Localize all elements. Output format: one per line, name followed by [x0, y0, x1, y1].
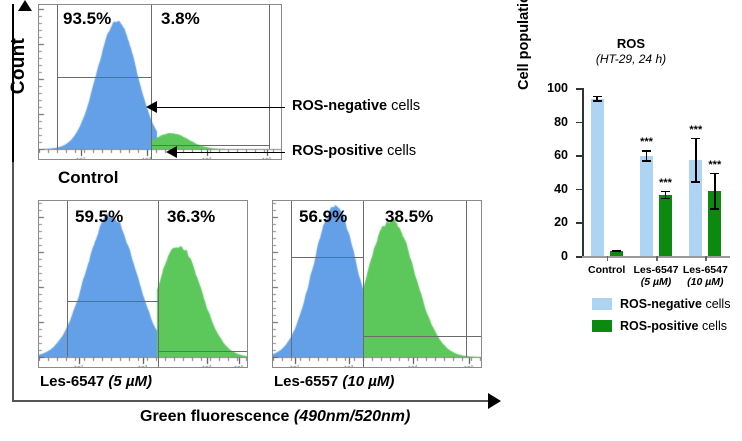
percent-negative-les6547-5um: 59.5%: [75, 207, 123, 227]
chart-subtitle: (HT-29, 24 h): [520, 52, 742, 66]
chart-bar: [591, 99, 604, 256]
chart-error-bar: [646, 150, 648, 162]
legend-swatch: [592, 298, 612, 310]
chart-error-cap: [661, 191, 670, 193]
gate-left-bound-les6557-10um: [291, 201, 292, 357]
chart-y-tick: 40: [576, 189, 582, 191]
chart-error-cap: [710, 173, 719, 175]
annotation-label-ros-negative-rest: cells: [387, 98, 420, 114]
chart-y-tick: 100: [576, 88, 582, 90]
caption-les6547-5um: Les-6547 (5 µM): [40, 373, 152, 390]
caption-control: Control: [58, 168, 118, 188]
caption-control-bold: Control: [58, 168, 118, 187]
chart-error-cap: [710, 208, 719, 210]
annotation-label-ros-positive: ROS-positive cells: [292, 143, 416, 159]
chart-bar: [640, 156, 653, 256]
annotation-arrow-ros-negative: [146, 101, 157, 113]
chart-error-cap: [642, 160, 651, 162]
gate-region-positive-les6547-5um: [158, 351, 247, 352]
flow-cytometry-section: Count Green fluorescence (490nm/520nm) 9…: [0, 0, 520, 441]
green-fluorescence-axis-line: [12, 400, 492, 402]
chart-error-bar: [695, 138, 697, 183]
chart-y-axis: [582, 88, 584, 256]
caption-les6557-10um: Les-6557 (10 µM): [274, 373, 394, 390]
chart-y-tick-label: 20: [554, 215, 568, 229]
chart-y-tick: 60: [576, 155, 582, 157]
annotation-line-ros-positive: [175, 152, 285, 153]
caption-les6557-10um-italic: (10 µM): [342, 373, 394, 390]
caption-les6547-5um-bold: Les-6547: [40, 373, 104, 390]
chart-error-bar: [714, 173, 716, 210]
chart-y-tick-label: 60: [554, 148, 568, 162]
gate-divider-les6547-5um: [158, 201, 159, 367]
green-fluorescence-axis-arrowhead: [488, 393, 501, 409]
legend-label: ROS-negative cells: [620, 297, 730, 311]
chart-x-tick: [607, 256, 609, 261]
gate-right-bound-control: [269, 5, 270, 149]
legend-label-bold: ROS-negative: [620, 297, 702, 311]
annotation-arrow-ros-positive: [166, 146, 177, 158]
bar-chart-section: ROS (HT-29, 24 h) Cell population, % 020…: [520, 0, 742, 441]
chart-significance-marker: ***: [659, 177, 672, 189]
histogram-panel-control: 93.5% 3.8%: [38, 4, 282, 160]
chart-y-axis-label: Cell population, %: [516, 0, 532, 90]
gate-left-bound-control: [57, 5, 58, 149]
chart-error-cap: [593, 96, 602, 98]
legend-label: ROS-positive cells: [620, 319, 727, 333]
x-axis-title: Green fluorescence (490nm/520nm): [140, 408, 410, 426]
chart-x-category-label: Control: [588, 264, 625, 276]
percent-negative-les6557-10um: 56.9%: [299, 207, 347, 227]
gate-region-negative-control: [57, 77, 151, 78]
percent-positive-les6557-10um: 38.5%: [385, 207, 433, 227]
chart-error-bar: [665, 191, 667, 199]
histogram-panel-les6547-5um: 59.5% 36.3%: [38, 200, 248, 368]
annotation-line-ros-negative: [155, 107, 285, 108]
x-axis-title-italic: (490nm/520nm): [294, 408, 411, 425]
chart-y-tick-label: 40: [554, 182, 568, 196]
chart-x-tick: [705, 256, 707, 261]
chart-error-cap: [691, 138, 700, 140]
chart-error-bar: [615, 250, 617, 253]
gate-divider-les6557-10um: [363, 201, 364, 367]
percent-positive-control: 3.8%: [161, 9, 200, 29]
gate-divider-control: [151, 5, 152, 159]
percent-negative-control: 93.5%: [63, 9, 111, 29]
chart-x-category-label: Les-6547(10 µM): [683, 264, 728, 288]
chart-error-bar: [596, 96, 598, 102]
figure-frame-vertical: [12, 162, 14, 402]
gate-region-negative-les6547-5um: [67, 301, 158, 302]
chart-error-cap: [593, 100, 602, 102]
chart-significance-marker: ***: [640, 136, 653, 148]
legend-swatch: [592, 320, 612, 332]
annotation-label-ros-negative: ROS-negative cells: [292, 98, 420, 114]
count-axis-arrowhead: [18, 0, 32, 11]
chart-y-tick-label: 80: [554, 115, 568, 129]
gate-left-bound-les6547-5um: [67, 201, 68, 357]
chart-error-cap: [691, 181, 700, 183]
chart-bar: [659, 195, 672, 256]
chart-y-tick-label: 100: [547, 81, 568, 95]
chart-significance-marker: ***: [708, 159, 721, 171]
histogram-panel-les6557-10um: 56.9% 38.5%: [272, 200, 482, 368]
legend-label-bold: ROS-positive: [620, 319, 699, 333]
count-axis-label: Count: [8, 31, 30, 101]
annotation-label-ros-positive-rest: cells: [383, 143, 416, 159]
annotation-label-ros-negative-bold: ROS-negative: [292, 98, 387, 114]
chart-plot-area: 020406080100 ************ ControlLes-654…: [582, 88, 730, 256]
chart-error-cap: [642, 150, 651, 152]
chart-y-tick: 80: [576, 122, 582, 124]
chart-title: ROS: [520, 36, 742, 51]
chart-error-cap: [612, 251, 621, 253]
chart-x-category-sublabel: (5 µM): [634, 276, 679, 288]
percent-positive-les6547-5um: 36.3%: [167, 207, 215, 227]
annotation-label-ros-positive-bold: ROS-positive: [292, 143, 383, 159]
caption-les6557-10um-bold: Les-6557: [274, 373, 338, 390]
gate-region-negative-les6557-10um: [291, 257, 363, 258]
chart-x-category-sublabel: (10 µM): [683, 276, 728, 288]
chart-significance-marker: ***: [689, 124, 702, 136]
chart-y-tick: 0: [576, 256, 582, 258]
x-axis-title-bold: Green fluorescence: [140, 408, 289, 425]
gate-region-positive-les6557-10um: [363, 336, 481, 337]
chart-x-category-label: Les-6547(5 µM): [634, 264, 679, 288]
histogram-plot-les6547-5um: [39, 201, 247, 367]
chart-x-tick: [656, 256, 658, 261]
chart-error-cap: [661, 198, 670, 200]
histogram-curve-les6547-5um: [39, 201, 247, 367]
chart-y-tick-label: 0: [561, 249, 568, 263]
chart-y-tick: 20: [576, 222, 582, 224]
gate-right-bound-les6557-10um: [466, 201, 467, 357]
caption-les6547-5um-italic: (5 µM): [108, 373, 152, 390]
